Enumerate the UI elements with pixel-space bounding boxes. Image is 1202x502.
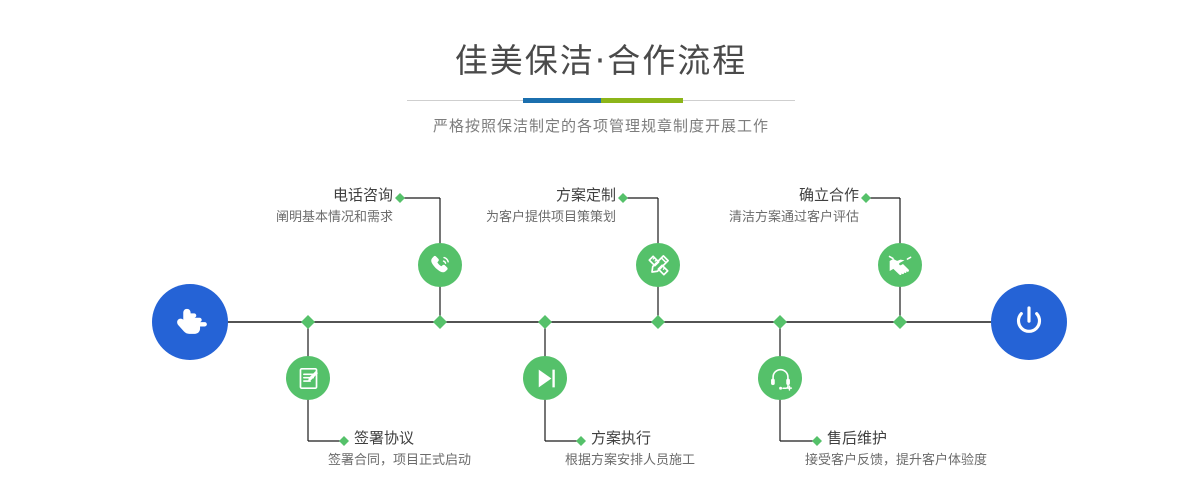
step-label-1-title: 电话咨询 [150, 186, 393, 205]
step-label-1-desc: 阐明基本情况和需求 [150, 209, 393, 227]
step-label-3-title: 方案定制 [375, 186, 616, 205]
play-forward-icon [532, 365, 559, 392]
document-edit-icon [295, 365, 322, 392]
power-icon [1008, 301, 1050, 343]
step-node-6[interactable] [758, 356, 802, 400]
timeline-diamond-6 [893, 315, 907, 329]
step-label-5: 确立合作 清洁方案通过客户评估 [618, 186, 859, 227]
step-node-3[interactable] [636, 243, 680, 287]
phone-call-icon [427, 252, 454, 279]
step-label-3-desc: 为客户提供项目策策划 [375, 209, 616, 227]
flow-start-button[interactable] [152, 284, 228, 360]
pencil-ruler-icon [645, 252, 672, 279]
step-label-1: 电话咨询 阐明基本情况和需求 [150, 186, 393, 227]
flow-end-button[interactable] [991, 284, 1067, 360]
step-node-1[interactable] [418, 243, 462, 287]
step-label-6-title: 售后维护 [827, 429, 1107, 448]
headset-support-icon [767, 365, 794, 392]
timeline-diamond-3 [538, 315, 552, 329]
timeline-diamond-4 [651, 315, 665, 329]
step-label-5-desc: 清洁方案通过客户评估 [618, 209, 859, 227]
step-node-4[interactable] [523, 356, 567, 400]
step-label-3: 方案定制 为客户提供项目策策划 [375, 186, 616, 227]
infographic-root: 佳美保洁·合作流程 严格按照保洁制定的各项管理规章制度开展工作 [0, 0, 1202, 502]
step-label-6-desc: 接受客户反馈，提升客户体验度 [805, 452, 1107, 470]
pointing-hand-icon [169, 301, 211, 343]
process-flow: 电话咨询 阐明基本情况和需求 方案定制 为客户提供项目策策划 确立合作 清洁方案… [0, 0, 1202, 502]
step-label-2-title: 签署协议 [354, 429, 614, 448]
label-diamond-step-2 [339, 436, 349, 446]
step-label-4-title: 方案执行 [591, 429, 851, 448]
step-label-6: 售后维护 接受客户反馈，提升客户体验度 [827, 429, 1107, 470]
step-label-5-title: 确立合作 [618, 186, 859, 205]
step-node-2[interactable] [286, 356, 330, 400]
label-diamond-step-5 [861, 193, 871, 203]
timeline-diamond-1 [301, 315, 315, 329]
timeline-diamond-5 [773, 315, 787, 329]
step-node-5[interactable] [878, 243, 922, 287]
flow-connectors [0, 0, 1202, 502]
timeline-diamond-2 [433, 315, 447, 329]
handshake-icon [886, 251, 914, 279]
